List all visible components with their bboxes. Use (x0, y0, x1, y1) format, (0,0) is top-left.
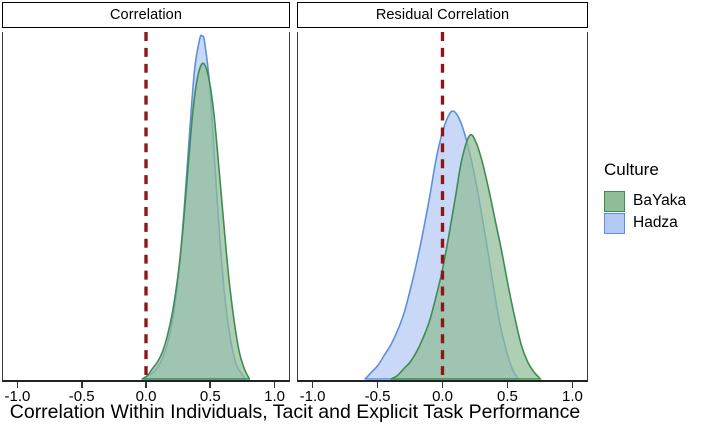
facet-strip-residual-correlation: Residual Correlation (297, 2, 588, 28)
legend-swatch-bayaka (604, 191, 625, 212)
facet-strip-label: Residual Correlation (376, 7, 509, 23)
facet-strip-label: Correlation (110, 7, 182, 23)
density-curve-bayaka (142, 63, 249, 379)
figure-root: Correlation Residual Correlation -1.0-0.… (0, 0, 704, 426)
legend-label-hadza: Hadza (633, 214, 678, 232)
legend-item-bayaka[interactable]: BaYaka (604, 190, 704, 212)
legend-swatch-hadza (604, 213, 625, 234)
legend-label-bayaka: BaYaka (633, 192, 686, 210)
plot-area-correlation (2, 32, 290, 382)
facet-strip-correlation: Correlation (2, 2, 290, 28)
facet-panel-correlation: Correlation (2, 2, 290, 382)
legend-title: Culture (604, 160, 704, 180)
legend-item-hadza[interactable]: Hadza (604, 212, 704, 234)
x-axis-label: Correlation Within Individuals, Tacit an… (0, 401, 590, 424)
legend: Culture BaYaka Hadza (604, 160, 704, 234)
facet-panel-residual-correlation: Residual Correlation (297, 2, 588, 382)
plot-area-residual-correlation (297, 32, 588, 382)
